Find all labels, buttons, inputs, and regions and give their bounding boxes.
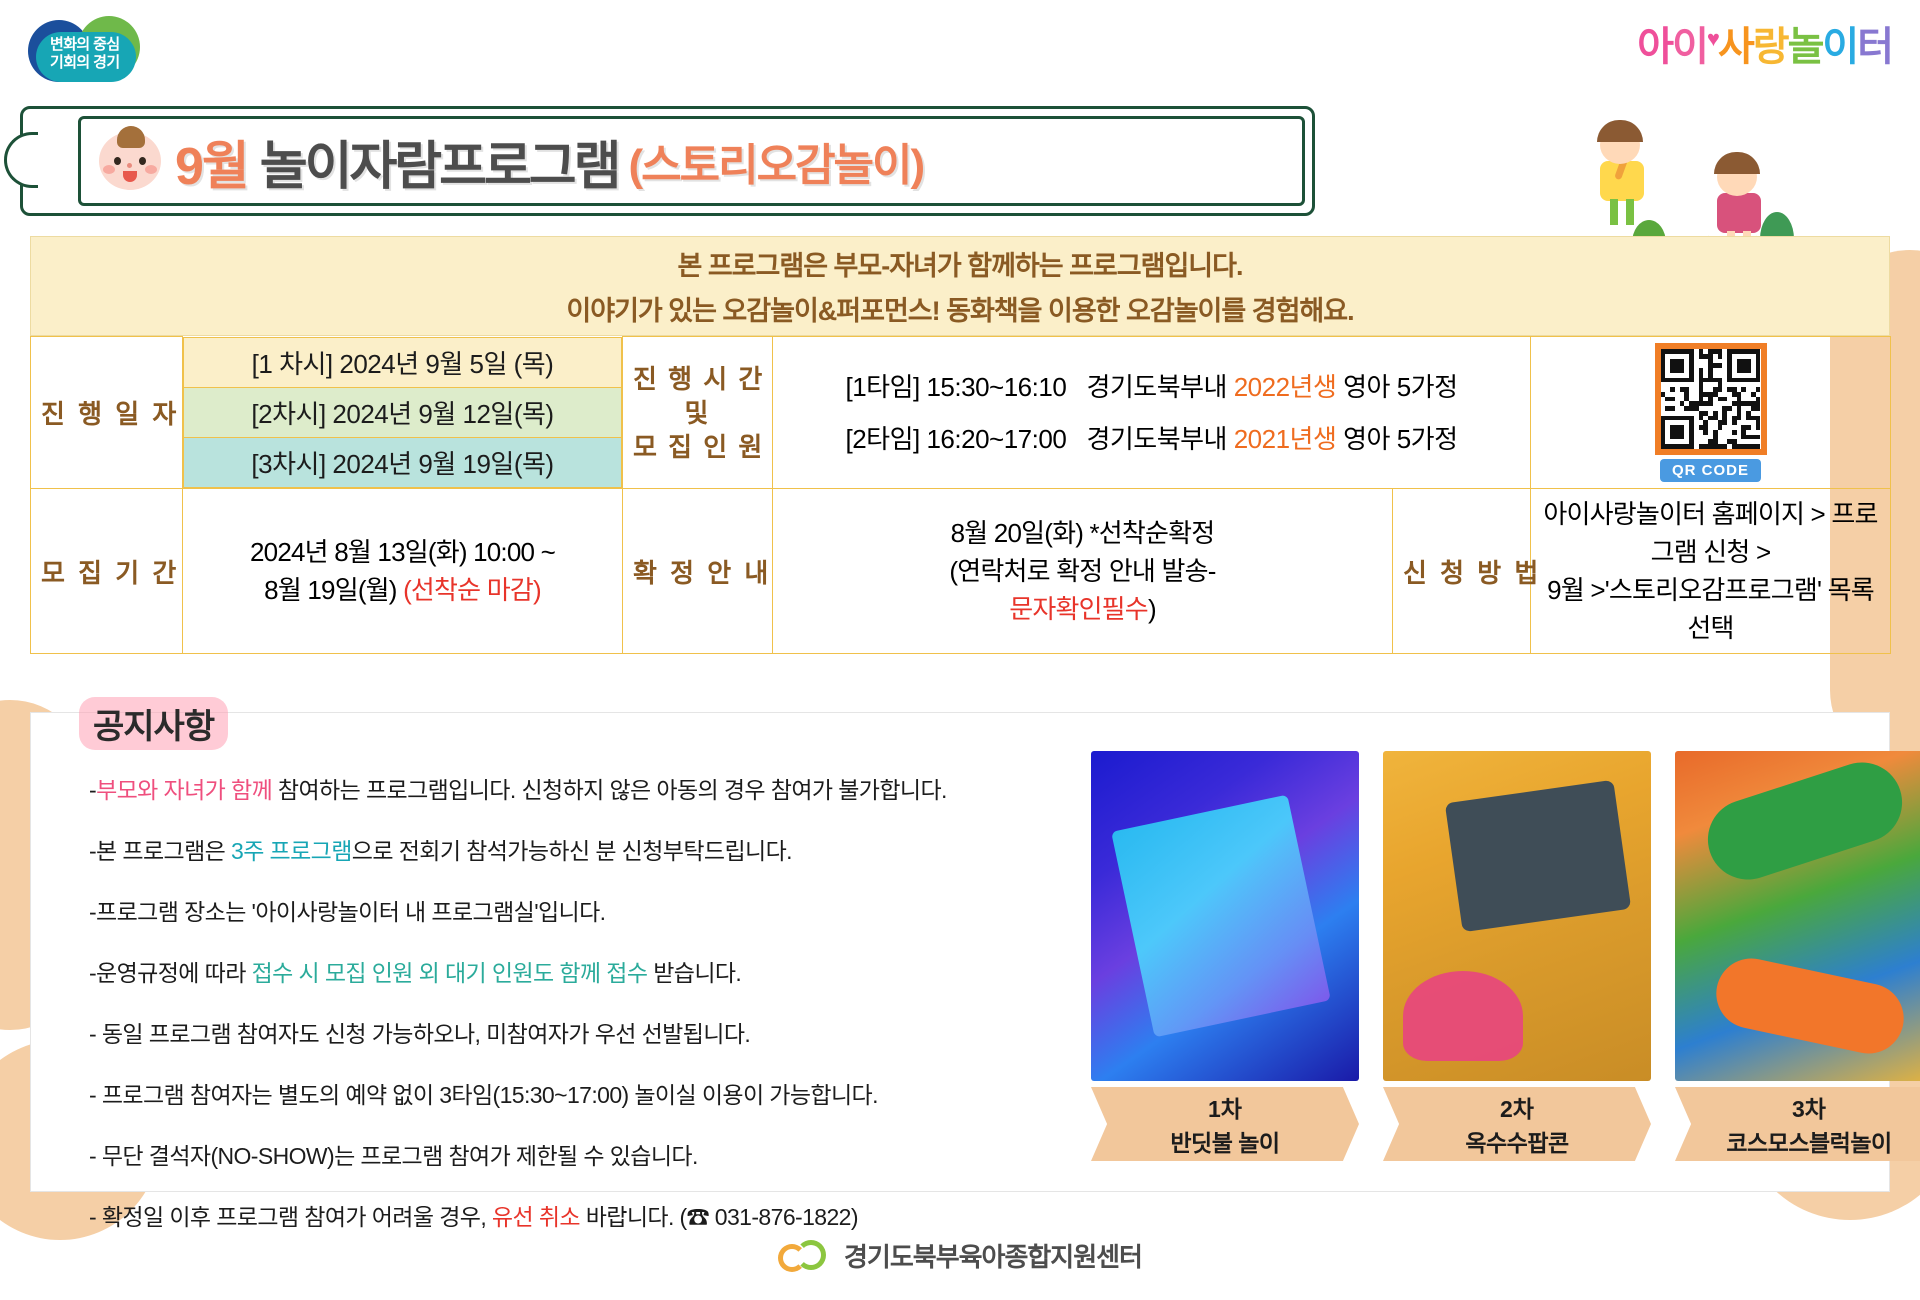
- photo-item-3: 3차 코스모스블럭놀이: [1675, 751, 1920, 1161]
- notice-text: 참여하는 프로그램입니다. 신청하지 않은 아동의 경우 참여가 불가합니다.: [272, 777, 947, 803]
- notice-text: 받습니다.: [647, 960, 741, 986]
- intro-line-2: 이야기가 있는 오감놀이&퍼포먼스! 동화책을 이용한 오감놀이를 경험해요.: [566, 289, 1353, 328]
- notice-highlight: 유선 취소: [492, 1204, 580, 1230]
- photo-caption-2: 2차 옥수수팝콘: [1383, 1087, 1651, 1161]
- label-time-and-capacity: 진 행 시 간 및 모 집 인 원: [623, 337, 773, 489]
- notice-text: - 동일 프로그램 참여자도 신청 가능하오나, 미참여자가 우선 선발됩니다.: [89, 1021, 750, 1047]
- photo-image-2: [1383, 751, 1651, 1081]
- notice-item: -운영규정에 따라 접수 시 모집 인원 외 대기 인원도 함께 접수 받습니다…: [89, 954, 1049, 988]
- footer: 경기도북부육아종합지원센터: [0, 1237, 1920, 1274]
- photo-image-3: [1675, 751, 1920, 1081]
- program-info-table: 진 행 일 자 [1 차시] 2024년 9월 5일 (목) [2차시] 202…: [30, 336, 1891, 654]
- time-row-1: [1타임] 15:30~16:10 경기도북부내 2022년생 영아 5가정: [783, 361, 1520, 413]
- notice-panel: 공지사항 -부모와 자녀가 함께 참여하는 프로그램입니다. 신청하지 않은 아…: [30, 712, 1890, 1192]
- center-logo-icon: [778, 1238, 832, 1274]
- ilovechild-playground-logo: 아이♥사랑놀이터: [1637, 14, 1892, 72]
- gyeonggi-logo-line1: 변화의 중심: [50, 36, 120, 54]
- qr-code-cell[interactable]: QR CODE: [1531, 337, 1891, 489]
- intro-box: 본 프로그램은 부모-자녀가 함께하는 프로그램입니다. 이야기가 있는 오감놀…: [30, 236, 1890, 336]
- notice-highlight: 접수 시 모집 인원 외 대기 인원도 함께 접수: [252, 960, 648, 986]
- notice-item: -프로그램 장소는 '아이사랑놀이터 내 프로그램실'입니다.: [89, 893, 1049, 927]
- label-recruit-period: 모 집 기 간: [31, 489, 183, 654]
- label-program-date: 진 행 일 자: [31, 337, 183, 489]
- photo-item-1: 1차 반딧불 놀이: [1091, 751, 1359, 1161]
- label-apply-method: 신 청 방 법: [1393, 489, 1531, 654]
- title-main: 놀이자람프로그램: [260, 124, 619, 199]
- notice-text: - 프로그램 참여자는 별도의 예약 없이 3타임(15:30~17:00) 놀…: [89, 1082, 878, 1108]
- recruit-period-value: 2024년 8월 13일(화) 10:00 ~ 8월 19일(월) (선착순 마…: [183, 489, 623, 654]
- title-banner: 9월 놀이자람프로그램 (스토리오감놀이): [20, 106, 1315, 216]
- notice-text: 으로 전회기 참석가능하신 분 신청부탁드립니다.: [352, 838, 792, 864]
- table-row-application: 모 집 기 간 2024년 8월 13일(화) 10:00 ~ 8월 19일(월…: [31, 489, 1891, 654]
- notice-item: - 프로그램 참여자는 별도의 예약 없이 3타임(15:30~17:00) 놀…: [89, 1076, 1049, 1110]
- notice-text: -: [89, 777, 96, 803]
- intro-line-1: 본 프로그램은 부모-자녀가 함께하는 프로그램입니다.: [678, 244, 1243, 283]
- notice-highlight: 3주 프로그램: [231, 838, 352, 864]
- qr-code-label: QR CODE: [1660, 459, 1761, 482]
- notice-text: 바랍니다. (☎ 031-876-1822): [580, 1204, 858, 1230]
- notice-item: -부모와 자녀가 함께 참여하는 프로그램입니다. 신청하지 않은 아동의 경우…: [89, 771, 1049, 805]
- notice-text: -운영규정에 따라: [89, 960, 252, 986]
- apply-method-value: 아이사랑놀이터 홈페이지 > 프로그램 신청 > 9월 >'스토리오감프로그램'…: [1531, 489, 1891, 654]
- notice-text: -프로그램 장소는 '아이사랑놀이터 내 프로그램실'입니다.: [89, 899, 605, 925]
- photo-image-1: [1091, 751, 1359, 1081]
- photo-item-2: 2차 옥수수팝콘: [1383, 751, 1651, 1161]
- notice-list: -부모와 자녀가 함께 참여하는 프로그램입니다. 신청하지 않은 아동의 경우…: [89, 771, 1049, 1259]
- table-row-schedule: 진 행 일 자 [1 차시] 2024년 9월 5일 (목) [2차시] 202…: [31, 337, 1891, 489]
- notice-text: - 무단 결석자(NO-SHOW)는 프로그램 참여가 제한될 수 있습니다.: [89, 1143, 698, 1169]
- session-row-3: [3차시] 2024년 9월 19일(목): [184, 437, 622, 487]
- gyeonggi-logo-line2: 기회의 경기: [50, 54, 120, 72]
- notice-highlight: 부모와 자녀가 함께: [96, 777, 272, 803]
- poster-page: 변화의 중심 기회의 경기 아이♥사랑놀이터 9월 놀이자람프로그램 (스토리오…: [0, 0, 1920, 1300]
- session-row-2: [2차시] 2024년 9월 12일(목): [184, 387, 622, 437]
- session-list-cell: [1 차시] 2024년 9월 5일 (목) [2차시] 2024년 9월 12…: [183, 337, 623, 489]
- notice-text: -본 프로그램은: [89, 838, 231, 864]
- gyeonggi-province-logo: 변화의 중심 기회의 경기: [28, 14, 153, 86]
- time-capacity-cell: [1타임] 15:30~16:10 경기도북부내 2022년생 영아 5가정 […: [773, 337, 1531, 489]
- photo-caption-3: 3차 코스모스블럭놀이: [1675, 1087, 1920, 1161]
- footer-organization: 경기도북부육아종합지원센터: [844, 1237, 1142, 1274]
- kid-illustration-2: [1717, 158, 1761, 233]
- qr-code-image[interactable]: [1655, 343, 1767, 455]
- title-month: 9월: [175, 124, 248, 199]
- photo-caption-1: 1차 반딧불 놀이: [1091, 1087, 1359, 1161]
- notice-item: - 확정일 이후 프로그램 참여가 어려울 경우, 유선 취소 바랍니다. (☎…: [89, 1198, 1049, 1232]
- notice-title: 공지사항: [79, 697, 228, 750]
- notice-item: - 무단 결석자(NO-SHOW)는 프로그램 참여가 제한될 수 있습니다.: [89, 1137, 1049, 1171]
- photo-gallery: 1차 반딧불 놀이 2차 옥수수팝콘 3차 코스모스블럭놀이: [1091, 751, 1920, 1161]
- notice-item: -본 프로그램은 3주 프로그램으로 전회기 참석가능하신 분 신청부탁드립니다…: [89, 832, 1049, 866]
- time-row-2: [2타임] 16:20~17:00 경기도북부내 2021년생 영아 5가정: [783, 413, 1520, 465]
- session-row-1: [1 차시] 2024년 9월 5일 (목): [184, 337, 622, 387]
- confirm-notice-value: 8월 20일(화) *선착순확정 (연락처로 확정 안내 발송- 문자확인필수): [773, 489, 1393, 654]
- baby-face-icon: [99, 132, 161, 190]
- notice-text: - 확정일 이후 프로그램 참여가 어려울 경우,: [89, 1204, 492, 1230]
- kid-illustration-1: [1600, 126, 1644, 201]
- title-subtitle: (스토리오감놀이): [629, 129, 924, 193]
- label-confirm-notice: 확 정 안 내: [623, 489, 773, 654]
- notice-item: - 동일 프로그램 참여자도 신청 가능하오나, 미참여자가 우선 선발됩니다.: [89, 1015, 1049, 1049]
